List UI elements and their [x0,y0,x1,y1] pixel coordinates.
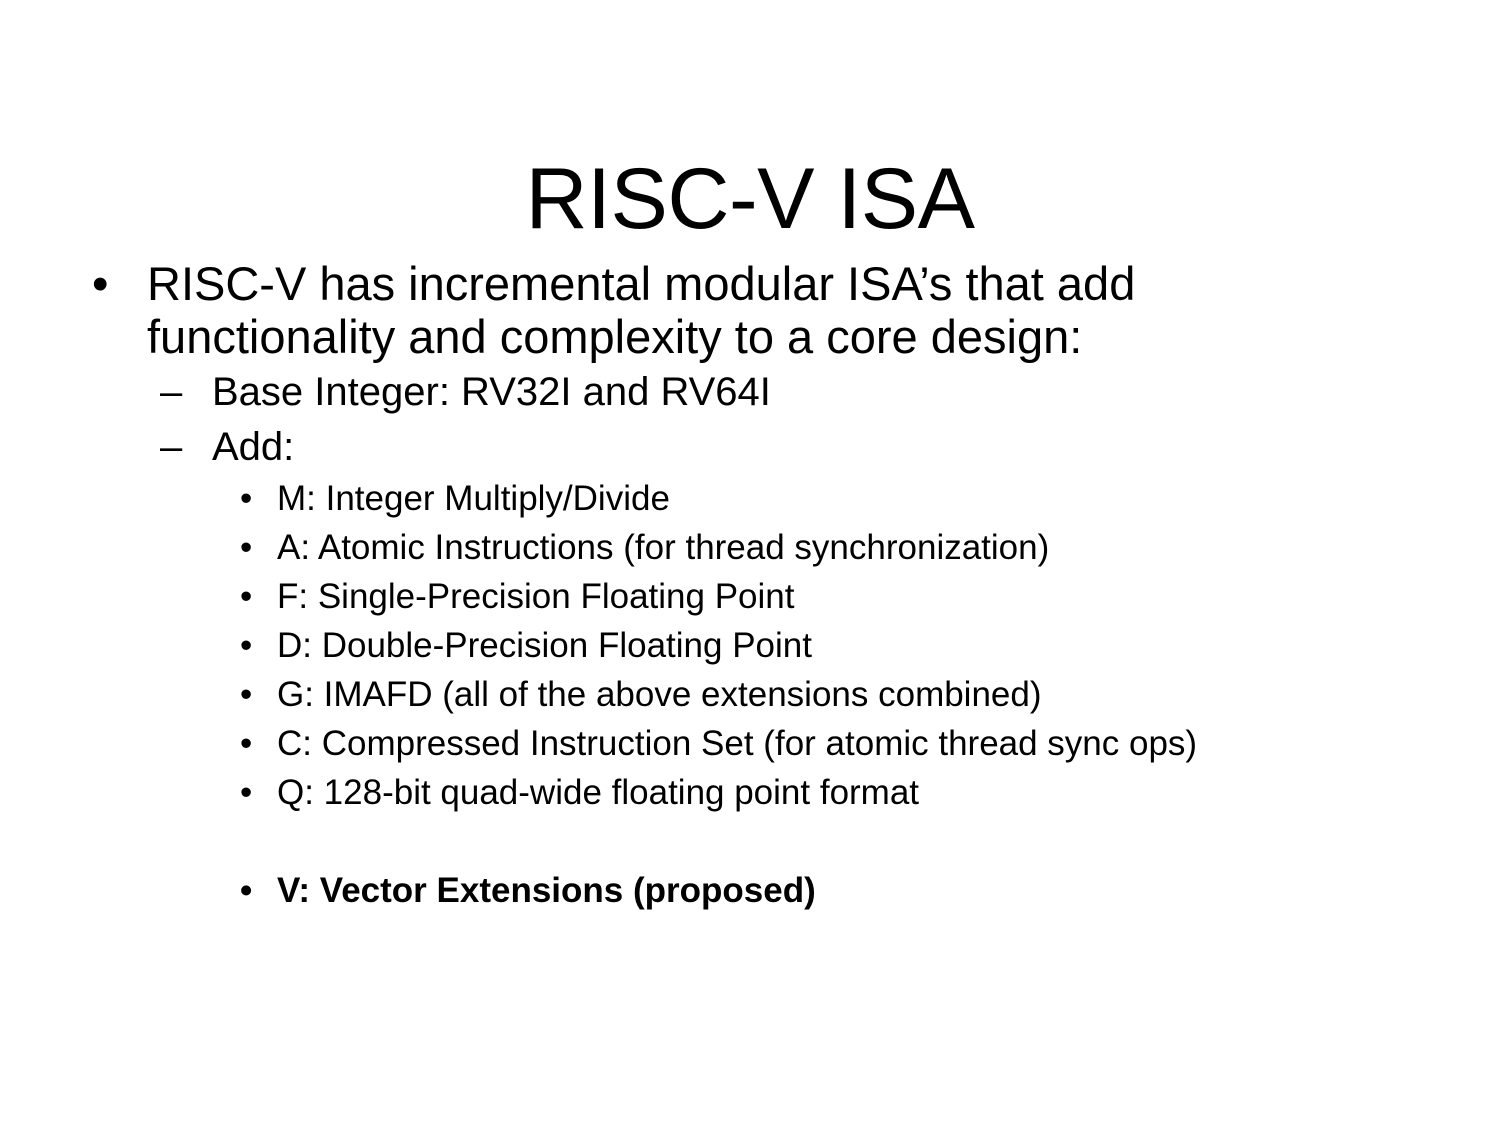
bullet-sublist-container-level-3: • M: Integer Multiply/Divide • A: Atomic… [0,474,1500,915]
bullet-item-extension-g: • G: IMAFD (all of the above extensions … [0,670,1500,719]
bullet-dash-icon: – [160,365,182,419]
bullet-dot-icon: • [92,258,108,311]
bullet-dot-icon: • [240,670,252,719]
bullet-dot-icon: • [240,866,252,915]
bullet-dot-icon: • [240,572,252,621]
bullet-list-level-2: – Base Integer: RV32I and RV64I – Add: •… [0,365,1500,915]
bullet-text-extension-q: Q: 128-bit quad-wide floating point form… [277,773,919,812]
bullet-text-extension-f: F: Single-Precision Floating Point [277,577,794,616]
bullet-dot-icon: • [240,768,252,817]
bullet-item-extension-c: • C: Compressed Instruction Set (for ato… [0,719,1500,768]
bullet-dash-icon: – [160,420,182,474]
bullet-text-add: Add: [212,425,294,469]
bullet-dot-icon: • [240,719,252,768]
bullet-item-extension-a: • A: Atomic Instructions (for thread syn… [0,523,1500,572]
bullet-text-extension-v: V: Vector Extensions (proposed) [277,871,816,910]
bullet-item-extension-d: • D: Double-Precision Floating Point [0,621,1500,670]
bullet-text-extension-d: D: Double-Precision Floating Point [277,626,812,665]
bullet-text-base-integer: Base Integer: RV32I and RV64I [212,370,771,414]
bullet-text-extension-a: A: Atomic Instructions (for thread synch… [277,528,1049,567]
blank-line-spacer [0,817,1500,866]
bullet-item-extension-m: • M: Integer Multiply/Divide [0,474,1500,523]
bullet-item-extension-q: • Q: 128-bit quad-wide floating point fo… [0,768,1500,817]
bullet-item-level-1: • RISC-V has incremental modular ISA’s t… [0,258,1387,363]
bullet-text-extension-g: G: IMAFD (all of the above extensions co… [277,675,1042,714]
bullet-dot-icon: • [240,621,252,670]
bullet-list-level-1: • RISC-V has incremental modular ISA’s t… [0,258,1500,915]
bullet-text-extension-m: M: Integer Multiply/Divide [277,479,670,518]
bullet-item-base-integer: – Base Integer: RV32I and RV64I [0,365,1492,419]
bullet-text-extension-c: C: Compressed Instruction Set (for atomi… [277,724,1197,763]
bullet-dot-icon: • [240,474,252,523]
presentation-slide: RISC-V ISA • RISC-V has incremental modu… [0,0,1500,1125]
bullet-item-add: – Add: [0,420,1492,474]
bullet-text-level-1: RISC-V has incremental modular ISA’s tha… [147,257,1135,363]
bullet-item-extension-v: • V: Vector Extensions (proposed) [0,866,1500,915]
bullet-dot-icon: • [240,523,252,572]
slide-body-content: • RISC-V has incremental modular ISA’s t… [0,258,1500,915]
page-title: RISC-V ISA [0,154,1500,244]
bullet-sublist-container-level-2: – Base Integer: RV32I and RV64I – Add: •… [0,365,1500,915]
bullet-item-extension-f: • F: Single-Precision Floating Point [0,572,1500,621]
bullet-list-level-3: • M: Integer Multiply/Divide • A: Atomic… [0,474,1500,915]
